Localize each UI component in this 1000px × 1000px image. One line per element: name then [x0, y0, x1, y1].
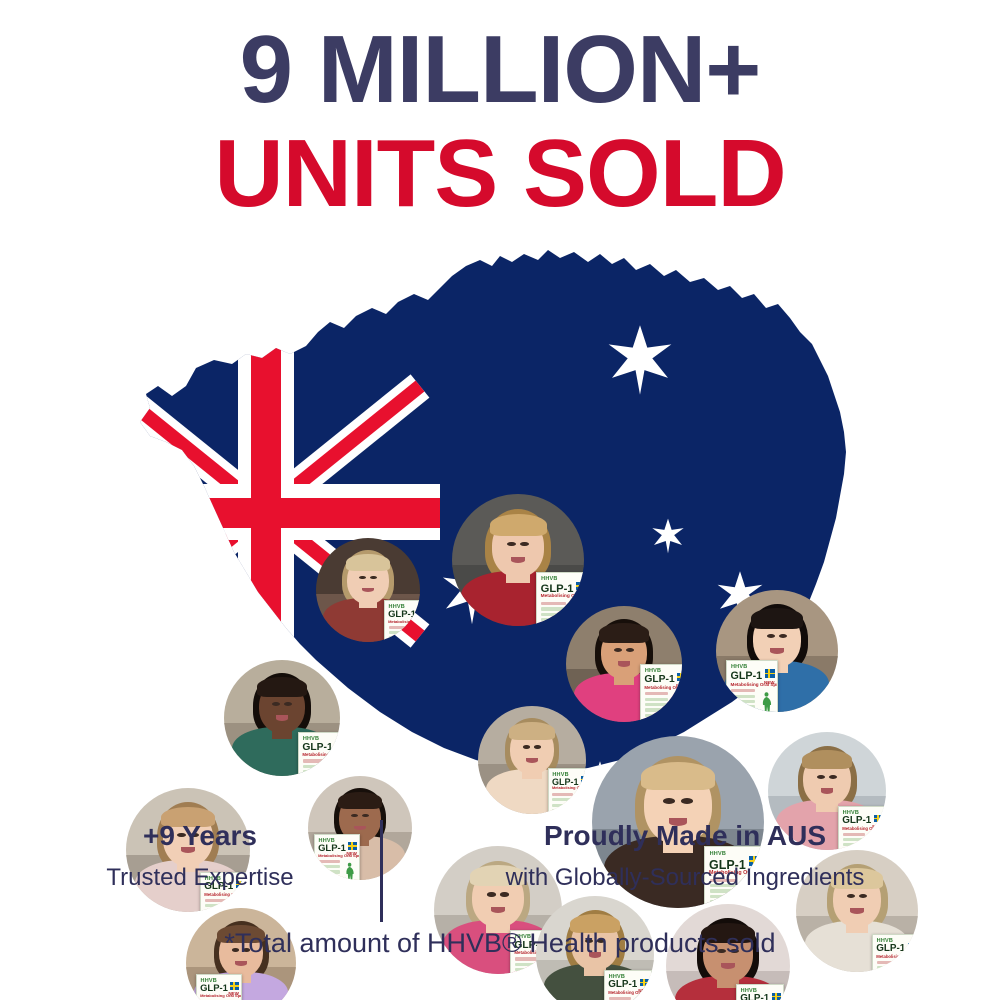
trust-facts-row: +9 Years Trusted Expertise Proudly Made …: [0, 818, 1000, 928]
photo-mouth: [235, 961, 247, 966]
glp1-product-name: GLP-1: [302, 743, 332, 753]
glp1-product-name: GLP-1: [731, 671, 763, 682]
glp1-bottom-strip: [641, 719, 682, 722]
fact-years-subtext: Trusted Expertise: [40, 860, 360, 896]
fact-made-heading: Proudly Made in AUS: [400, 818, 970, 854]
photo-hair-front: [338, 792, 383, 809]
photo-eye-right: [829, 775, 837, 779]
glp1-new-badge: NEW: [416, 617, 420, 622]
photo-hair-front: [509, 722, 556, 740]
glp1-new-badge: NEW: [576, 592, 584, 597]
glp1-feature-list: [552, 793, 572, 814]
glp1-figure-illustration: [330, 759, 340, 776]
sweden-flag-icon: [765, 669, 775, 677]
glp1-product-name: GLP-1: [644, 675, 674, 685]
photo-hair-front: [346, 554, 391, 571]
photo-eye-right: [284, 702, 292, 706]
sweden-flag-icon: [772, 993, 781, 1000]
testimonial-photo: HHVBGLP-1Metabolising Oral SprayNEW: [566, 606, 682, 722]
glp1-feature-list: [515, 957, 538, 974]
photo-mouth: [721, 963, 735, 969]
photo-eye-right: [626, 648, 634, 652]
glp1-product-box: HHVBGLP-1Metabolising Oral SprayNEW: [736, 984, 784, 1000]
sweden-flag-icon: [581, 776, 586, 783]
glp1-product-subtitle: Metabolising Oral Spray: [388, 620, 420, 624]
glp1-product-name: GLP-1: [388, 610, 416, 619]
glp1-product-box: HHVBGLP-1Metabolising Oral SprayNEW: [548, 768, 586, 814]
promotional-poster: 9 MILLION+ UNITS SOLD: [0, 0, 1000, 1000]
sweden-flag-icon: [677, 673, 682, 681]
sweden-flag-icon: [335, 741, 340, 749]
glp1-feature-list: [645, 692, 668, 719]
photo-hair-front: [641, 762, 715, 790]
photo-hair-front: [257, 677, 307, 696]
photo-mouth: [526, 758, 538, 763]
headline-units-sold: UNITS SOLD: [0, 122, 1000, 226]
glp1-product-box: HHVBGLP-1Metabolising Oral SprayNEW: [604, 970, 652, 1000]
glp1-feature-list: [877, 961, 899, 972]
glp1-figure-illustration: [902, 961, 916, 972]
glp1-product-name: GLP-1: [552, 778, 579, 787]
glp1-product-box: HHVBGLP-1Metabolising Oral SprayNEW: [640, 664, 682, 722]
facts-divider: [380, 820, 383, 922]
glp1-new-badge: NEW: [764, 680, 775, 685]
photo-hair-front: [751, 608, 804, 628]
fact-made-in-aus: Proudly Made in AUS with Globally-Source…: [400, 818, 970, 896]
glp1-product-name: GLP-1: [608, 980, 637, 990]
glp1-feature-list: [389, 626, 410, 642]
headline-units-count: 9 MILLION+: [0, 18, 1000, 122]
glp1-new-badge: NEW: [676, 683, 682, 688]
glp1-feature-list: [731, 689, 755, 712]
glp1-figure-illustration: [672, 692, 682, 718]
glp1-feature-list: [303, 759, 326, 776]
glp1-product-box: HHVBGLP-1Metabolising Oral SprayNEW: [384, 600, 420, 642]
testimonial-photo: HHVBGLP-1Metabolising Oral SprayNEW: [452, 494, 584, 626]
glp1-product-name: GLP-1: [200, 984, 228, 993]
headline-block: 9 MILLION+ UNITS SOLD: [0, 18, 1000, 226]
photo-mouth: [770, 648, 783, 653]
photo-eye-left: [817, 775, 825, 779]
sweden-flag-icon: [576, 582, 584, 591]
glp1-product-box: HHVBGLP-1Metabolising Oral SprayNEW: [726, 660, 778, 712]
photo-hair-front: [599, 623, 649, 642]
australia-map-collage: HHVBGLP-1Metabolising Oral SprayNEWHHVBG…: [0, 236, 1000, 876]
testimonial-photo: HHVBGLP-1Metabolising Oral SprayNEW: [224, 660, 340, 776]
glp1-new-badge: NEW: [334, 750, 340, 755]
sweden-flag-icon: [418, 608, 420, 615]
glp1-product-box: HHVBGLP-1Metabolising Oral SprayNEW: [298, 732, 340, 776]
testimonial-photo: HHVBGLP-1Metabolising Oral SprayNEW: [478, 706, 586, 814]
testimonial-photo: HHVBGLP-1Metabolising Oral SprayNEW: [316, 538, 420, 642]
glp1-figure-illustration: [759, 689, 774, 712]
glp1-new-badge: NEW: [578, 785, 586, 790]
photo-mouth: [618, 661, 631, 666]
glp1-figure-illustration: [413, 626, 420, 642]
photo-hair-front: [490, 514, 547, 536]
photo-mouth: [276, 715, 289, 720]
glp1-new-badge: NEW: [638, 988, 649, 993]
footnote-disclaimer: *Total amount of HHVB® Health products s…: [0, 928, 1000, 959]
photo-eye-left: [523, 745, 531, 749]
fact-made-subtext: with Globally-Sourced Ingredients: [400, 860, 970, 896]
photo-eye-right: [534, 745, 542, 749]
glp1-new-badge: NEW: [228, 991, 239, 996]
fact-years-heading: +9 Years: [40, 818, 360, 854]
glp1-brand-label: HHVB: [541, 576, 557, 582]
glp1-feature-list: [609, 997, 631, 1000]
glp1-figure-illustration: [576, 793, 586, 814]
photo-hair-front: [802, 750, 853, 770]
photo-mouth: [821, 788, 834, 793]
testimonial-photo: HHVBGLP-1Metabolising Oral SprayNEW: [716, 590, 838, 712]
sweden-flag-icon: [640, 979, 649, 987]
glp1-figure-illustration: [634, 997, 648, 1000]
fact-years-experience: +9 Years Trusted Expertise: [40, 818, 360, 896]
sweden-flag-icon: [230, 982, 239, 989]
glp1-product-name: GLP-1: [740, 994, 769, 1000]
glp1-product-box: HHVBGLP-1Metabolising Oral SprayNEW: [196, 974, 242, 1000]
glp1-feature-list: [541, 602, 566, 626]
